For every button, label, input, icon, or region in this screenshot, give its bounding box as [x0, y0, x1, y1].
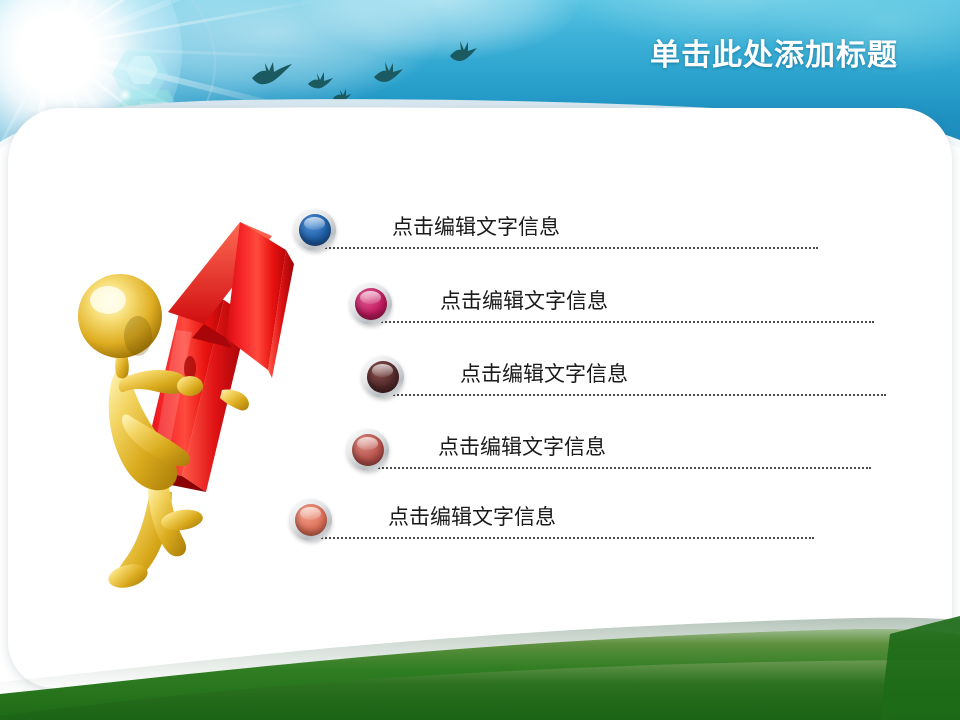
bullet-text-1[interactable]: 点击编辑文字信息: [392, 211, 560, 241]
bullet-bead-fill: [355, 288, 387, 320]
bullet-text-4[interactable]: 点击编辑文字信息: [438, 431, 606, 461]
bullet-bead-icon-5[interactable]: [290, 499, 332, 541]
page-title[interactable]: 单击此处添加标题: [650, 30, 898, 74]
grass-field: [0, 590, 960, 720]
bullet-dotted-line-4: [371, 467, 871, 469]
bullet-bead-icon-2[interactable]: [350, 283, 392, 325]
bullet-bead-icon-1[interactable]: [294, 209, 336, 251]
bullet-text-5[interactable]: 点击编辑文字信息: [388, 501, 556, 531]
bullet-dotted-line-5: [314, 537, 814, 539]
bird-4-icon: [448, 40, 478, 66]
lens-flare-dot: [72, 46, 88, 62]
lens-flare-dot: [118, 88, 132, 102]
gold-figure-with-red-arrow-illustration: [72, 220, 312, 592]
bullet-bead-fill: [352, 434, 384, 466]
bullet-bead-fill: [299, 214, 331, 246]
bullet-text-2[interactable]: 点击编辑文字信息: [440, 285, 608, 315]
bullet-bead-icon-3[interactable]: [362, 356, 404, 398]
bullet-bead-fill: [295, 504, 327, 536]
bullet-text-3[interactable]: 点击编辑文字信息: [460, 358, 628, 388]
presentation-slide: 单击此处添加标题: [0, 0, 960, 720]
bird-2-icon: [306, 70, 334, 92]
bullet-dotted-line-2: [374, 321, 874, 323]
bird-3-icon: [372, 60, 404, 86]
bullet-dotted-line-3: [386, 394, 886, 396]
bullet-bead-fill: [367, 361, 399, 393]
bullet-dotted-line-1: [318, 247, 818, 249]
bird-5-icon: [332, 88, 352, 104]
cloud-wisp: [300, 0, 580, 60]
bird-1-icon: [248, 58, 294, 88]
bullet-bead-icon-4[interactable]: [347, 429, 389, 471]
